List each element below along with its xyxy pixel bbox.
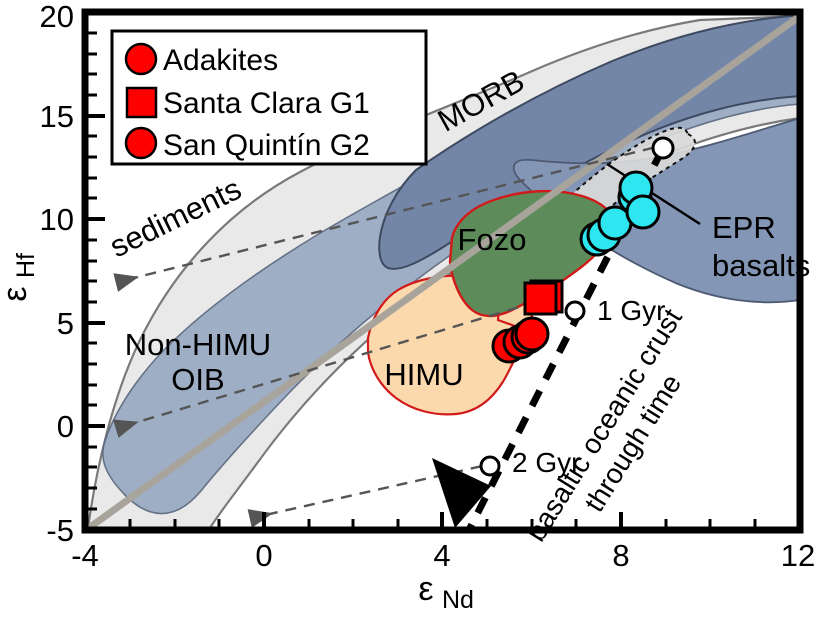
legend-marker-circle-icon — [126, 44, 156, 74]
y-tick-label: 0 — [57, 409, 74, 444]
x-tick-label: 12 — [781, 538, 815, 573]
y-tick-label: 20 — [40, 0, 74, 34]
crust-ref-dot-1gyr — [566, 302, 584, 320]
fozo-label: Fozo — [458, 222, 527, 257]
data-point-red-square — [525, 283, 556, 314]
y-tick-label: 15 — [40, 99, 74, 134]
x-tick-label: 8 — [612, 538, 629, 573]
epr-label-line2: basalts — [712, 248, 810, 283]
x-axis-title: ε Nd — [418, 570, 474, 614]
legend[interactable]: Adakites Santa Clara G1 San Quintín G2 — [112, 31, 426, 164]
epsilon-nd-vs-epsilon-hf-scatter-plot: -4 0 4 8 12 -5 0 5 10 15 20 ε Nd ε Hf MO… — [0, 0, 816, 624]
x-tick-label: 4 — [433, 538, 450, 573]
legend-item-san-quintin-g2[interactable]: San Quintín G2 — [126, 128, 370, 162]
y-axis-title: ε Hf — [0, 253, 40, 302]
crust-ref-dot-2gyr — [481, 457, 499, 475]
data-point-cyan — [627, 196, 659, 228]
legend-item-label: Santa Clara G1 — [163, 87, 370, 120]
chart-container: -4 0 4 8 12 -5 0 5 10 15 20 ε Nd ε Hf MO… — [0, 0, 816, 624]
x-tick-label: -4 — [71, 538, 99, 573]
non-himu-oib-label-line1: Non-HIMU — [125, 327, 271, 362]
x-axis-title-sub: Nd — [442, 586, 474, 614]
legend-item-label: Adakites — [163, 44, 278, 77]
crust-ref-dot-0gyr — [653, 138, 673, 158]
y-tick-label: 10 — [40, 202, 74, 237]
y-axis-title-base: ε — [0, 286, 34, 301]
y-axis-title-sub: Hf — [12, 253, 40, 278]
legend-item-adakites[interactable]: Adakites — [126, 44, 278, 77]
y-tick-label: 5 — [57, 306, 74, 341]
legend-item-santa-clara-g1[interactable]: Santa Clara G1 — [127, 87, 370, 120]
y-tick-label: -5 — [46, 513, 74, 548]
legend-marker-square-icon — [127, 88, 156, 117]
legend-item-label: San Quintín G2 — [163, 129, 370, 162]
epr-label-line1: EPR — [712, 210, 776, 245]
non-himu-oib-label-line2: OIB — [171, 362, 224, 397]
data-point-red-circle — [516, 318, 548, 350]
x-axis-title-base: ε — [418, 570, 433, 608]
x-tick-label: 0 — [255, 538, 272, 573]
himu-label: HIMU — [384, 357, 463, 392]
legend-marker-circle-icon — [126, 128, 156, 158]
